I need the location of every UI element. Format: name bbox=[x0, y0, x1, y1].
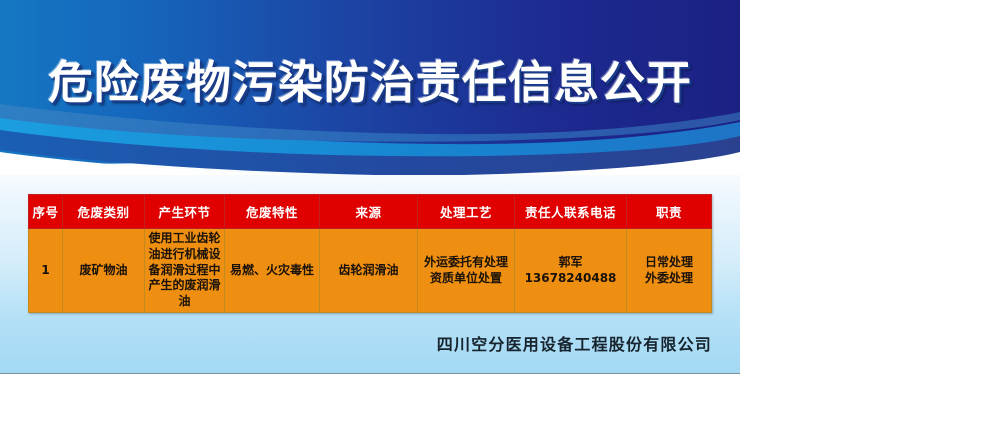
information-disclosure-poster: 危险废物污染防治责任信息公开 序号 危废类别 产生环节 危废特性 来源 处理工艺… bbox=[0, 0, 740, 373]
cell-treatment: 外运委托有处理资质单位处置 bbox=[418, 229, 515, 313]
column-header-treatment: 处理工艺 bbox=[418, 195, 515, 229]
cell-stage: 使用工业齿轮油进行机械设备润滑过程中产生的废润滑油 bbox=[145, 229, 225, 313]
column-header-source: 来源 bbox=[320, 195, 418, 229]
responsible-person-phone: 13678240488 bbox=[518, 271, 623, 287]
table-header-row: 序号 危废类别 产生环节 危废特性 来源 处理工艺 责任人联系电话 职责 bbox=[29, 195, 712, 229]
column-header-duty: 职责 bbox=[627, 195, 712, 229]
cell-index: 1 bbox=[29, 229, 63, 313]
cell-source: 齿轮润滑油 bbox=[320, 229, 418, 313]
responsible-person-name: 郭军 bbox=[518, 255, 623, 271]
cell-duty: 日常处理 外委处理 bbox=[627, 229, 712, 313]
cell-category: 废矿物油 bbox=[63, 229, 145, 313]
screenshot-root: 危险废物污染防治责任信息公开 序号 危废类别 产生环节 危废特性 来源 处理工艺… bbox=[0, 0, 1000, 442]
column-header-index: 序号 bbox=[29, 195, 63, 229]
company-name: 四川空分医用设备工程股份有限公司 bbox=[28, 331, 712, 355]
banner-wave-graphic bbox=[0, 0, 740, 175]
banner-header bbox=[0, 0, 740, 175]
cell-property: 易燃、火灾毒性 bbox=[225, 229, 320, 313]
table-row: 1 废矿物油 使用工业齿轮油进行机械设备润滑过程中产生的废润滑油 易燃、火灾毒性… bbox=[29, 229, 712, 313]
column-header-phone: 责任人联系电话 bbox=[515, 195, 627, 229]
column-header-stage: 产生环节 bbox=[145, 195, 225, 229]
column-header-property: 危废特性 bbox=[225, 195, 320, 229]
cell-responsible-contact: 郭军 13678240488 bbox=[515, 229, 627, 313]
hazardous-waste-table: 序号 危废类别 产生环节 危废特性 来源 处理工艺 责任人联系电话 职责 1 废… bbox=[28, 194, 712, 313]
column-header-category: 危废类别 bbox=[63, 195, 145, 229]
